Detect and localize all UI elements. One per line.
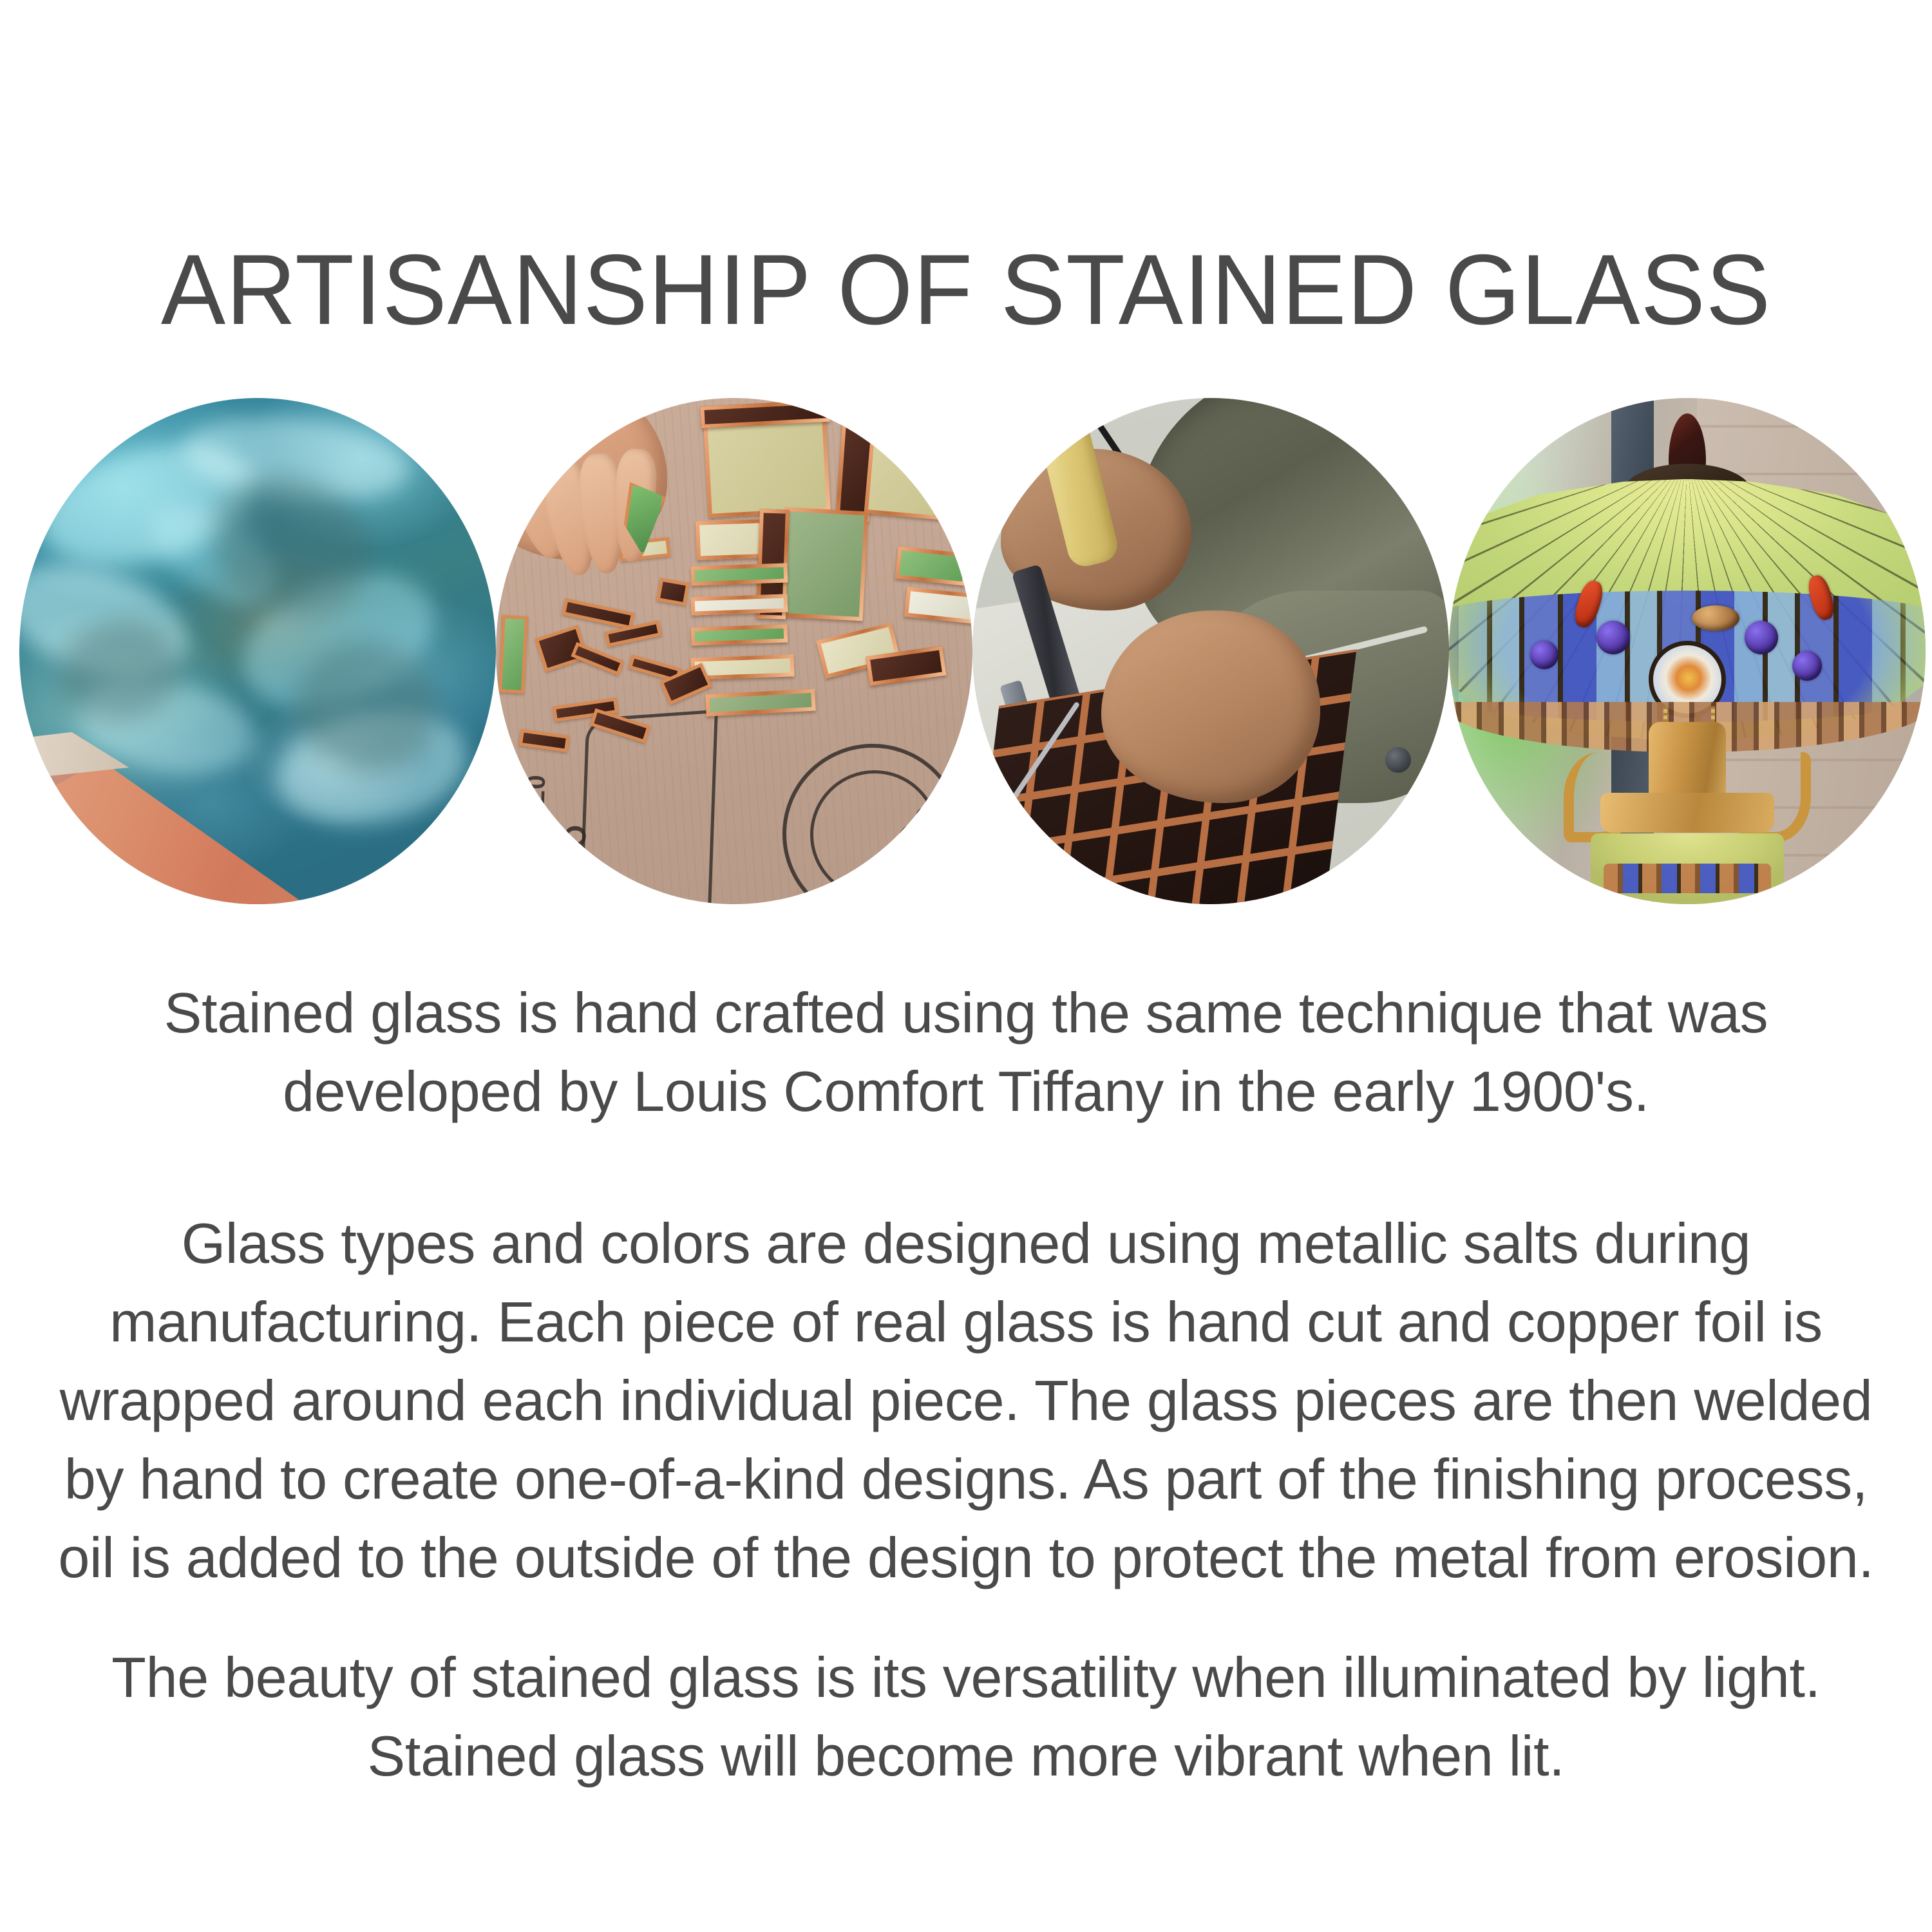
raw-glass-scene bbox=[19, 398, 496, 904]
artisan-hand-lower bbox=[1101, 611, 1320, 803]
shade-jewel bbox=[1530, 641, 1558, 669]
foiled-glass-piece bbox=[779, 507, 869, 621]
gallery-image-soldering bbox=[972, 398, 1449, 904]
finished-lamp-scene bbox=[1449, 398, 1926, 904]
gallery-image-copper-foiling: ISO 9001:20 TY · SUPER QU CH bbox=[496, 398, 972, 904]
process-gallery: ISO 9001:20 TY · SUPER QU CH bbox=[19, 398, 1916, 904]
paragraph-versatility: The beauty of stained glass is its versa… bbox=[0, 1638, 1932, 1795]
crate-stamp-iso: ISO bbox=[556, 823, 593, 879]
foiled-glass-piece bbox=[691, 624, 788, 645]
crate-stamp-box bbox=[578, 709, 718, 904]
paragraph-manufacturing-process: Glass types and colors are designed usin… bbox=[0, 1204, 1932, 1597]
glass-shard bbox=[656, 578, 690, 605]
shade-jewel bbox=[1596, 621, 1630, 654]
shade-jewel bbox=[1792, 651, 1822, 681]
paragraph-tiffany-technique: Stained glass is hand crafted using the … bbox=[0, 974, 1932, 1131]
foiled-glass-piece bbox=[703, 415, 831, 518]
gallery-image-raw-glass-sheet bbox=[19, 398, 496, 904]
lamp-base-band bbox=[1604, 864, 1771, 893]
glass-shard bbox=[498, 615, 528, 694]
sleeve-button bbox=[1385, 747, 1411, 773]
shade-jewel bbox=[1745, 621, 1778, 654]
soldering-scene bbox=[972, 398, 1449, 904]
infographic-page: ARTISANSHIP OF STAINED GLASS bbox=[0, 0, 1932, 1932]
foiled-glass-piece bbox=[691, 563, 788, 586]
page-title: ARTISANSHIP OF STAINED GLASS bbox=[29, 240, 1903, 339]
copper-foiling-scene: ISO 9001:20 TY · SUPER QU CH bbox=[496, 398, 972, 904]
foiled-glass-piece bbox=[864, 430, 961, 521]
lamp-brass-foot bbox=[1600, 793, 1774, 833]
foiled-glass-piece bbox=[691, 594, 788, 615]
crate-stamp-number: 9001:20 bbox=[519, 774, 551, 874]
gallery-image-finished-lamp bbox=[1449, 398, 1926, 904]
